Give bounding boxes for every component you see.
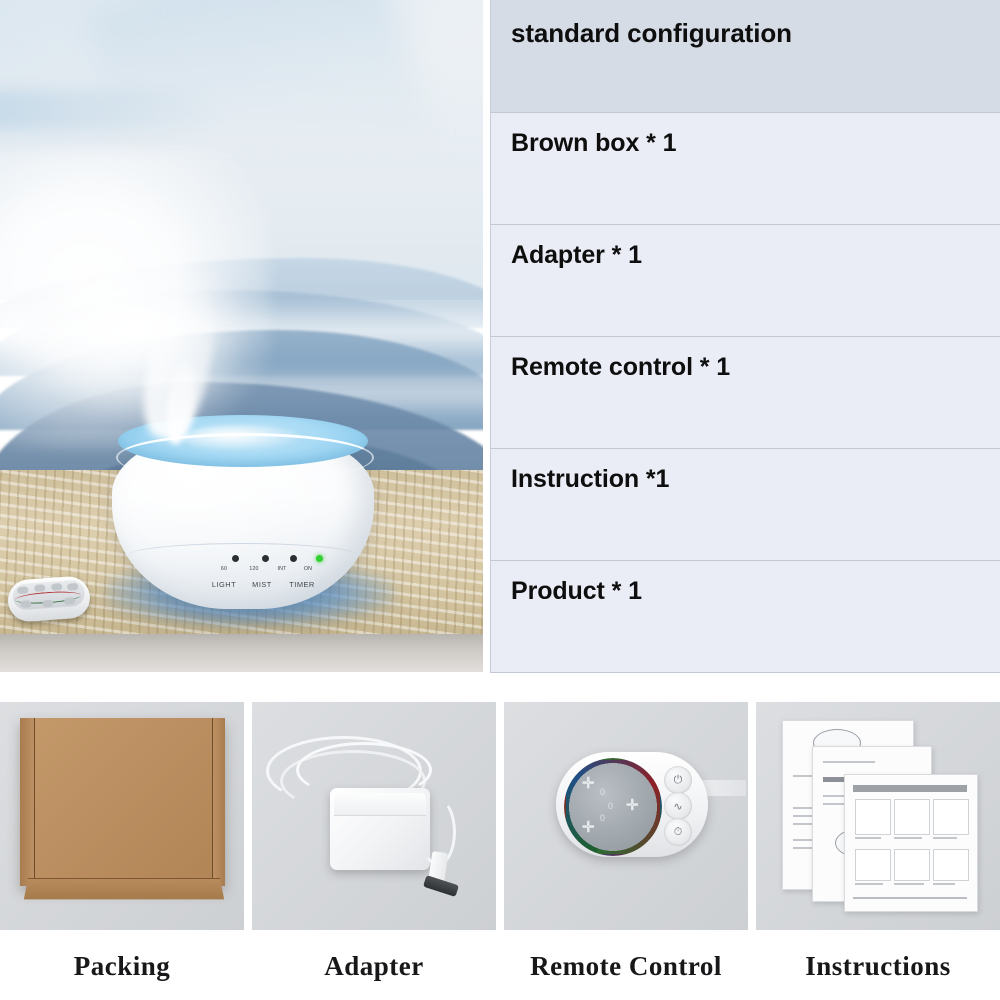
- thumbnail-strip: ✛ ✛ ✛ 0 0 0 ⏻ ∿ ⏱: [0, 702, 1000, 930]
- table-header-row: standard configuration: [491, 0, 1000, 113]
- remote-wheel-mark-3: 0: [600, 814, 605, 823]
- panel-label-mist: MIST: [242, 580, 282, 589]
- manual-front-header-bar: [853, 785, 967, 792]
- table-ledge: [0, 634, 483, 672]
- table-header-label: standard configuration: [491, 0, 792, 49]
- caption-instructions: Instructions: [756, 932, 1000, 1000]
- manual-step-6-caption: [933, 883, 955, 885]
- diffuser-control-panel: 60 120 INT ON LIGHT MIST TIMER: [220, 555, 360, 603]
- manual-step-1-caption: [855, 837, 881, 839]
- manual-step-3-caption: [933, 837, 957, 839]
- manual-step-5: [894, 849, 930, 881]
- panel-label-timer: TIMER: [282, 580, 322, 589]
- remote-button-4: [67, 583, 78, 591]
- adapter-brick-top: [334, 793, 426, 816]
- product-infographic: 60 120 INT ON LIGHT MIST TIMER: [0, 0, 1000, 1000]
- thumbnail-captions: Packing Adapter Remote Control Instructi…: [0, 932, 1000, 1000]
- caption-remote-control: Remote Control: [504, 932, 748, 1000]
- manual-sheet-front: [844, 774, 978, 912]
- hero-product-photo: 60 120 INT ON LIGHT MIST TIMER: [0, 0, 483, 672]
- carton-box: [20, 718, 225, 886]
- caption-adapter: Adapter: [252, 932, 496, 1000]
- indicator-dot-row: [232, 555, 350, 565]
- remote-timer-icon: ⏱: [664, 818, 692, 846]
- thumbnail-packing: [0, 702, 244, 930]
- remote-button-2: [34, 584, 45, 592]
- table-cell-instruction: Instruction *1: [491, 449, 669, 494]
- table-row: Adapter * 1: [491, 225, 1000, 337]
- manual-step-2: [894, 799, 930, 835]
- table-cell-product: Product * 1: [491, 561, 642, 606]
- remote-button-1: [17, 586, 28, 594]
- mist-cloud-inner: [20, 235, 250, 425]
- table-cell-remote-control: Remote control * 1: [491, 337, 730, 382]
- remote-button-7: [64, 597, 75, 605]
- table-cell-adapter: Adapter * 1: [491, 225, 642, 270]
- remote-button-6: [42, 600, 53, 608]
- remote-wheel-mark-1: 0: [600, 788, 605, 797]
- remote-button-5: [20, 600, 31, 608]
- box-bottom-flap: [24, 878, 224, 899]
- thumbnail-adapter: [252, 702, 496, 930]
- remote-mist-icon: ∿: [664, 792, 692, 820]
- remote-control-device: ✛ ✛ ✛ 0 0 0 ⏻ ∿ ⏱: [556, 752, 708, 857]
- table-row: Remote control * 1: [491, 337, 1000, 449]
- manual-step-3: [933, 799, 969, 835]
- manual-step-6: [933, 849, 969, 881]
- standard-configuration-table: standard configuration Brown box * 1 Ada…: [490, 0, 1000, 673]
- indicator-dot-on: [316, 555, 323, 562]
- manual-step-4-caption: [855, 883, 883, 885]
- manual-step-1: [855, 799, 891, 835]
- manual-front-footer-line: [853, 897, 967, 899]
- indicator-dot-int: [290, 555, 297, 562]
- table-row: Brown box * 1: [491, 113, 1000, 225]
- box-right-flap: [212, 718, 225, 886]
- indicator-label-120: 120: [243, 566, 265, 572]
- indicator-label-int: INT: [271, 566, 293, 572]
- indicator-dot-120: [262, 555, 269, 562]
- thumbnail-instructions: [756, 702, 1000, 930]
- manual-step-5-caption: [894, 883, 924, 885]
- indicator-label-60: 60: [213, 566, 235, 572]
- panel-label-light: LIGHT: [204, 580, 244, 589]
- adapter-brick: [330, 788, 430, 870]
- manual-step-2-caption: [894, 837, 922, 839]
- remote-button-3: [51, 583, 62, 591]
- manual-sheet-middle-title: [823, 761, 875, 763]
- remote-plus-icon-top-left: ✛: [582, 776, 595, 791]
- remote-power-icon: ⏻: [664, 766, 692, 794]
- remote-control-on-mat: [7, 575, 92, 623]
- indicator-label-on: ON: [297, 566, 319, 572]
- remote-plus-icon-right: ✛: [626, 798, 639, 813]
- manual-step-4: [855, 849, 891, 881]
- thumbnail-remote-control: ✛ ✛ ✛ 0 0 0 ⏻ ∿ ⏱: [504, 702, 748, 930]
- indicator-dot-60: [232, 555, 239, 562]
- aroma-diffuser: 60 120 INT ON LIGHT MIST TIMER: [112, 415, 374, 615]
- table-row: Product * 1: [491, 561, 1000, 673]
- caption-packing: Packing: [0, 932, 244, 1000]
- table-row: Instruction *1: [491, 449, 1000, 561]
- diffuser-rim: [116, 433, 374, 482]
- sky-streak-secondary: [0, 90, 220, 130]
- remote-plus-icon-bottom-left: ✛: [582, 820, 595, 835]
- box-left-flap: [20, 718, 35, 886]
- table-cell-brown-box: Brown box * 1: [491, 113, 676, 158]
- remote-wheel-mark-2: 0: [608, 802, 613, 811]
